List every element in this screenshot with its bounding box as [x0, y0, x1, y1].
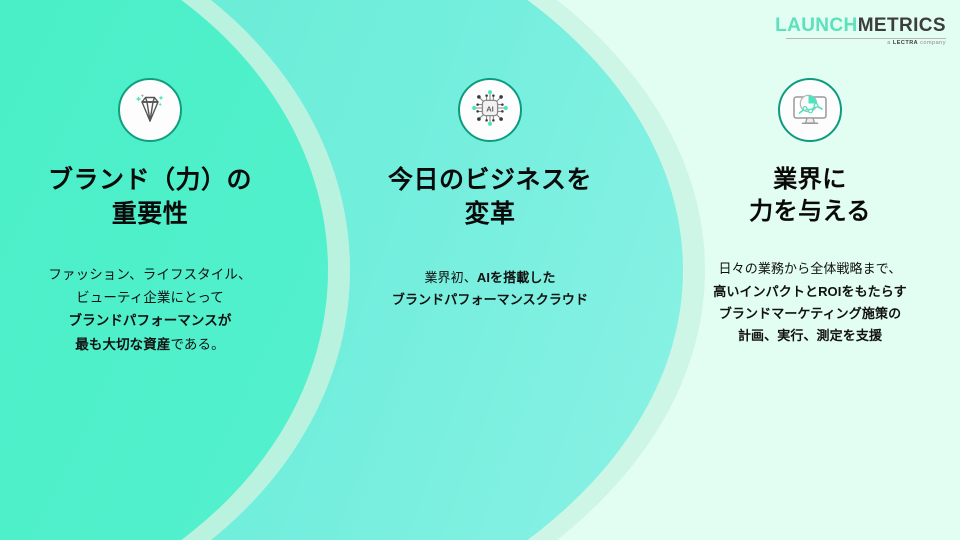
- column-body: 業界初、AIを搭載したブランドパフォーマンスクラウド: [350, 267, 630, 312]
- icon-container: [670, 78, 950, 142]
- feature-column-transform-business: AI: [350, 78, 630, 325]
- body-line-2: ビューティ企業にとって: [10, 286, 290, 309]
- logo-tagline-brand: LECTRA: [893, 40, 918, 46]
- analytics-monitor-icon: [789, 88, 831, 133]
- ai-chip-icon: AI: [469, 87, 511, 134]
- column-title-line2: 力を与える: [670, 196, 950, 228]
- body-line-2: 高いインパクトとROIをもたらす: [670, 281, 950, 303]
- body-line-3: ブランドマーケティング施策の: [670, 303, 950, 325]
- column-title-line1: ブランド（力）の: [10, 164, 290, 198]
- column-title-line1: 今日のビジネスを: [350, 164, 630, 198]
- icon-circle: AI: [458, 78, 522, 142]
- column-title-line2: 重要性: [10, 198, 290, 232]
- feature-column-brand-power: ブランド（力）の 重要性 ファッション、ライフスタイル、ビューティ企業にとってブ…: [10, 78, 290, 369]
- column-title: ブランド（力）の 重要性: [10, 164, 290, 231]
- icon-container: [10, 78, 290, 142]
- body-line-1: 日々の業務から全体戦略まで、: [670, 258, 950, 280]
- launchmetrics-logo: LAUNCHMETRICS a LECTRA company: [775, 16, 946, 47]
- column-title: 今日のビジネスを 変革: [350, 164, 630, 231]
- body-line-1: 業界初、AIを搭載した: [350, 267, 630, 289]
- column-body: 日々の業務から全体戦略まで、高いインパクトとROIをもたらすブランドマーケティン…: [670, 258, 950, 347]
- svg-text:AI: AI: [486, 104, 494, 113]
- logo-tagline-suffix: company: [918, 40, 946, 46]
- diamond-sparkle-icon: [130, 89, 170, 132]
- column-title-line2: 変革: [350, 198, 630, 232]
- body-line-1: ファッション、ライフスタイル、: [10, 263, 290, 286]
- icon-circle: [778, 78, 842, 142]
- slide-canvas: LAUNCHMETRICS a LECTRA company: [0, 0, 960, 540]
- logo-word-launch: LAUNCH: [775, 15, 858, 36]
- feature-column-empower-industry: 業界に 力を与える 日々の業務から全体戦略まで、高いインパクトとROIをもたらす…: [670, 78, 950, 361]
- body-line-4: 計画、実行、測定を支援: [670, 325, 950, 347]
- logo-tagline: a LECTRA company: [775, 41, 946, 47]
- logo-wordmark: LAUNCHMETRICS: [775, 16, 946, 35]
- body-line-3: ブランドパフォーマンスが: [10, 309, 290, 332]
- column-title-line1: 業界に: [670, 164, 950, 196]
- body-line-2: ブランドパフォーマンスクラウド: [350, 289, 630, 311]
- icon-circle: [118, 78, 182, 142]
- column-title: 業界に 力を与える: [670, 164, 950, 228]
- column-body: ファッション、ライフスタイル、ビューティ企業にとってブランドパフォーマンスが最も…: [10, 263, 290, 356]
- body-line-4: 最も大切な資産である。: [10, 333, 290, 356]
- icon-container: AI: [350, 78, 630, 142]
- logo-word-metrics: METRICS: [858, 15, 946, 36]
- logo-divider: [786, 38, 946, 39]
